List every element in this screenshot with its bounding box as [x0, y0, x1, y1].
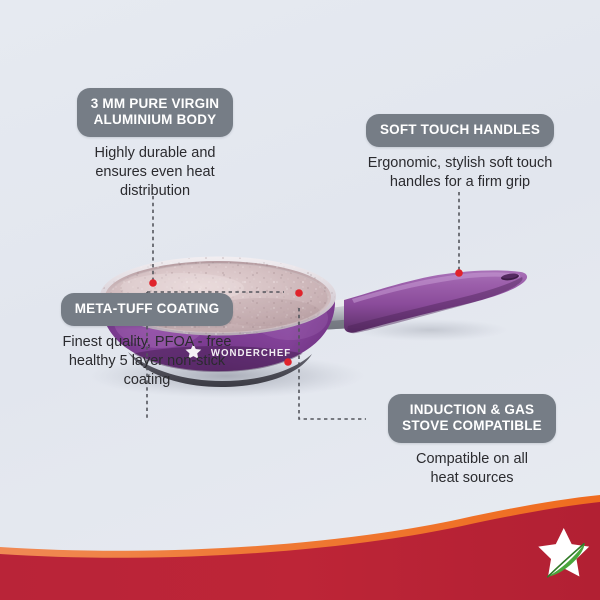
callout-handles-body: Ergonomic, stylish soft touch handles fo…: [346, 154, 574, 193]
marker-aluminium: [149, 279, 157, 287]
soft-touch-handle: [344, 270, 527, 333]
callout-aluminium-badge: 3 MM PURE VIRGIN ALUMINIUM BODY: [77, 88, 233, 137]
callout-coating: META-TUFF COATING Finest quality, PFOA -…: [22, 293, 272, 391]
callout-induction: INDUCTION & GAS STOVE COMPATIBLE Compati…: [362, 394, 582, 488]
callout-handles: SOFT TOUCH HANDLES Ergonomic, stylish so…: [346, 114, 574, 192]
leader-induction: [299, 308, 366, 419]
callout-induction-body: Compatible on all heat sources: [362, 450, 582, 489]
marker-induction: [284, 358, 292, 366]
infographic-canvas: WONDERCHEF 3 MM PURE VIRGIN ALUMINIUM BO…: [0, 0, 600, 600]
callout-aluminium: 3 MM PURE VIRGIN ALUMINIUM BODY Highly d…: [36, 88, 274, 202]
callout-handles-badge: SOFT TOUCH HANDLES: [366, 114, 554, 147]
callout-induction-badge: INDUCTION & GAS STOVE COMPATIBLE: [388, 394, 556, 443]
callout-coating-badge: META-TUFF COATING: [61, 293, 234, 326]
handle-ferrule: [316, 298, 354, 330]
marker-coating: [295, 289, 303, 297]
callout-aluminium-body: Highly durable and ensures even heat dis…: [36, 144, 274, 202]
marker-handles: [455, 269, 463, 277]
handle-shadow: [352, 319, 508, 341]
callout-coating-body: Finest quality, PFOA - free healthy 5 la…: [22, 333, 272, 391]
bottom-banner: [0, 495, 600, 600]
